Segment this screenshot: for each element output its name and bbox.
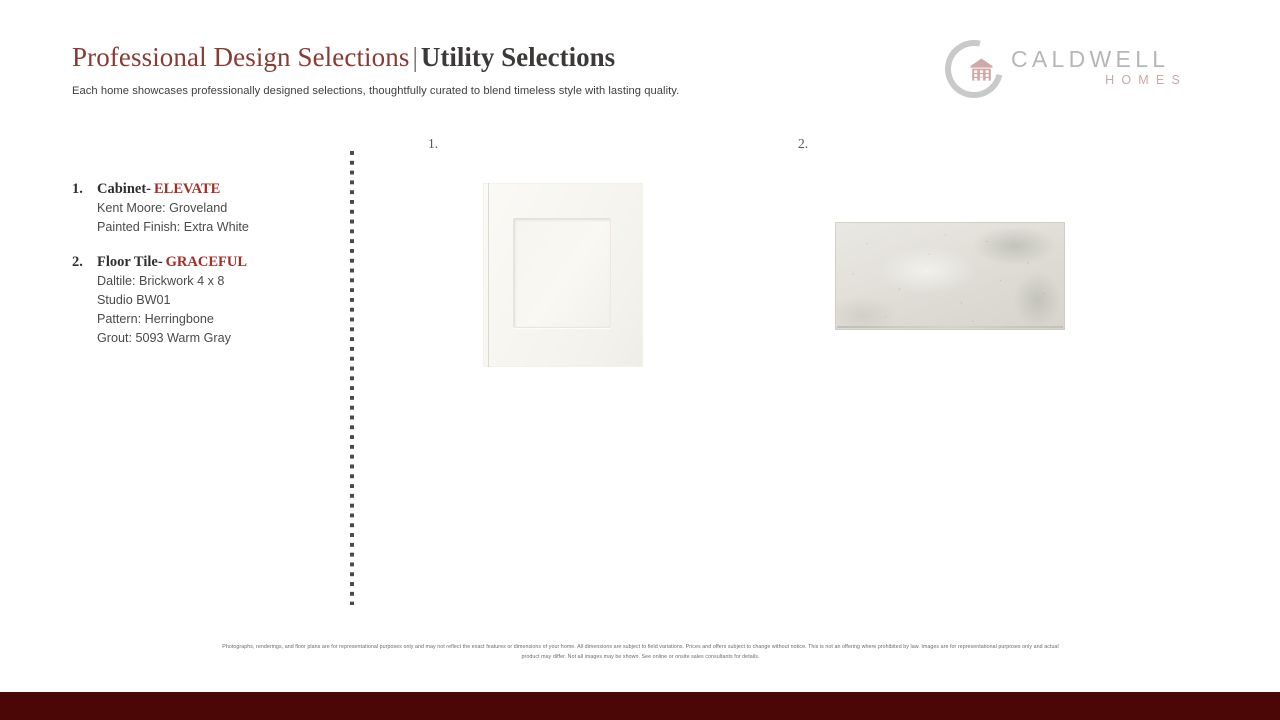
selection-detail-line: Kent Moore: Groveland [97, 199, 322, 218]
selection-number: 1. [72, 180, 97, 199]
selections-list: 1. Cabinet- ELEVATE Kent Moore: Grovelan… [72, 180, 322, 364]
selection-heading: 1. Cabinet- ELEVATE [72, 180, 322, 199]
selection-detail-line: Painted Finish: Extra White [97, 218, 322, 237]
selection-item-1: 1. Cabinet- ELEVATE Kent Moore: Grovelan… [72, 180, 322, 237]
disclaimer-text: Photographs, renderings, and floor plans… [218, 643, 1063, 662]
tile-bottom-edge [837, 326, 1063, 328]
callout-label-2: 2. [798, 136, 808, 152]
page-title-sub: Utility Selections [421, 42, 615, 72]
house-icon [969, 57, 994, 82]
slide-canvas: Professional Design Selections|Utility S… [0, 0, 1280, 720]
selection-heading: 2. Floor Tile- GRACEFUL [72, 253, 322, 272]
page-title-separator: | [409, 42, 420, 72]
selection-accent: GRACEFUL [163, 253, 247, 272]
selection-name: Floor Tile- [97, 253, 163, 272]
selection-detail-line: Pattern: Herringbone [97, 310, 322, 329]
caldwell-homes-logo: CALDWELL HOMES [945, 38, 1190, 100]
dotted-divider [350, 151, 354, 605]
page-title-main: Professional Design Selections [72, 42, 409, 72]
logo-word-caldwell: CALDWELL [1011, 46, 1191, 72]
callout-label-1: 1. [428, 136, 438, 152]
page-subtitle: Each home showcases professionally desig… [72, 84, 679, 98]
logo-word-homes: HOMES [1011, 72, 1191, 88]
selection-detail-lines: Daltile: Brickwork 4 x 8 Studio BW01 Pat… [72, 272, 322, 348]
floor-tile-swatch [835, 222, 1065, 330]
page-title: Professional Design Selections|Utility S… [72, 41, 615, 73]
tile-texture-overlay [835, 222, 1065, 330]
selection-item-2: 2. Floor Tile- GRACEFUL Daltile: Brickwo… [72, 253, 322, 348]
cabinet-door-swatch [483, 183, 643, 367]
selection-number: 2. [72, 253, 97, 272]
selection-detail-line: Studio BW01 [97, 291, 322, 310]
logo-mark [945, 40, 1003, 98]
selection-detail-line: Daltile: Brickwork 4 x 8 [97, 272, 322, 291]
selection-name: Cabinet- [97, 180, 151, 199]
footer-bar [0, 692, 1280, 720]
selection-detail-line: Grout: 5093 Warm Gray [97, 329, 322, 348]
logo-wordmark: CALDWELL HOMES [1011, 46, 1191, 88]
cabinet-recessed-panel [513, 218, 611, 328]
selection-detail-lines: Kent Moore: Groveland Painted Finish: Ex… [72, 199, 322, 237]
selection-accent: ELEVATE [151, 180, 220, 199]
